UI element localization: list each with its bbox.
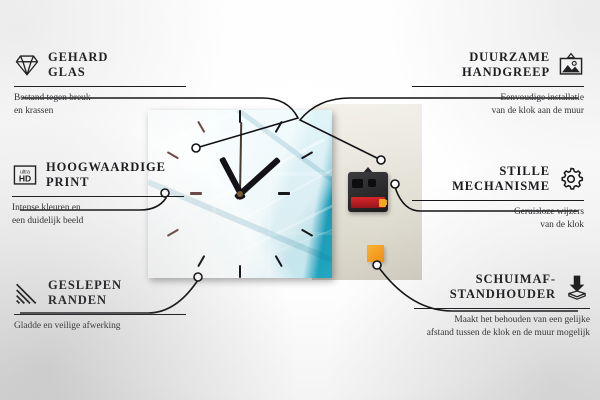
marker-handle-top — [377, 156, 385, 164]
feature-stille-mechanisme: STILLE MECHANISME Geruisloze wijzers van… — [412, 164, 584, 232]
feature-description: Geruisloze wijzers van de klok — [412, 206, 584, 232]
feature-title: DUURZAME HANDGREEP — [462, 50, 550, 81]
feature-title: STILLE MECHANISME — [452, 164, 550, 195]
feature-gehard-glas: GEHARD GLAS Bestand tegen breuk en krass… — [14, 50, 186, 118]
divider — [414, 308, 590, 310]
divider — [14, 314, 186, 316]
spacer-arrow-icon — [564, 274, 590, 300]
bevelled-edges-icon — [14, 280, 40, 306]
divider — [412, 200, 584, 202]
divider — [412, 86, 584, 88]
divider — [12, 196, 184, 198]
feature-title: HOOGWAARDIGE PRINT — [46, 160, 166, 191]
feature-title: GESLEPEN RANDEN — [48, 278, 122, 309]
marker-mechanism — [391, 180, 399, 188]
picture-frame-icon — [558, 52, 584, 78]
feature-schuimafstandhouder: SCHUIMAF- STANDHOUDER Maakt het behouden… — [414, 272, 590, 340]
feature-description: Intense kleuren en een duidelijk beeld — [12, 202, 184, 228]
feature-description: Eenvoudige installatie van de klok aan d… — [412, 92, 584, 118]
feature-description: Bestand tegen breuk en krassen — [14, 92, 186, 118]
feature-title: SCHUIMAF- STANDHOUDER — [450, 272, 556, 303]
marker-edges-bottom — [194, 273, 202, 281]
feature-geslepen-randen: GESLEPEN RANDEN Gladde en veilige afwerk… — [14, 278, 186, 333]
divider — [14, 86, 186, 88]
feature-description: Maakt het behouden van een gelijke afsta… — [414, 314, 590, 340]
marker-foam — [373, 261, 381, 269]
feature-duurzame-handgreep: DUURZAME HANDGREEP Eenvoudige installati… — [412, 50, 584, 118]
diamond-icon — [14, 52, 40, 78]
feature-description: Gladde en veilige afwerking — [14, 320, 186, 333]
feature-title: GEHARD GLAS — [48, 50, 108, 81]
gear-icon — [558, 166, 584, 192]
svg-text:HD: HD — [19, 174, 31, 184]
product-infographic: GEHARD GLAS Bestand tegen breuk en krass… — [0, 0, 600, 400]
ultra-hd-icon: ultra HD — [12, 162, 38, 188]
feature-hoogwaardige-print: ultra HD HOOGWAARDIGE PRINT Intense kleu… — [12, 160, 184, 228]
marker-glass-top — [192, 144, 200, 152]
